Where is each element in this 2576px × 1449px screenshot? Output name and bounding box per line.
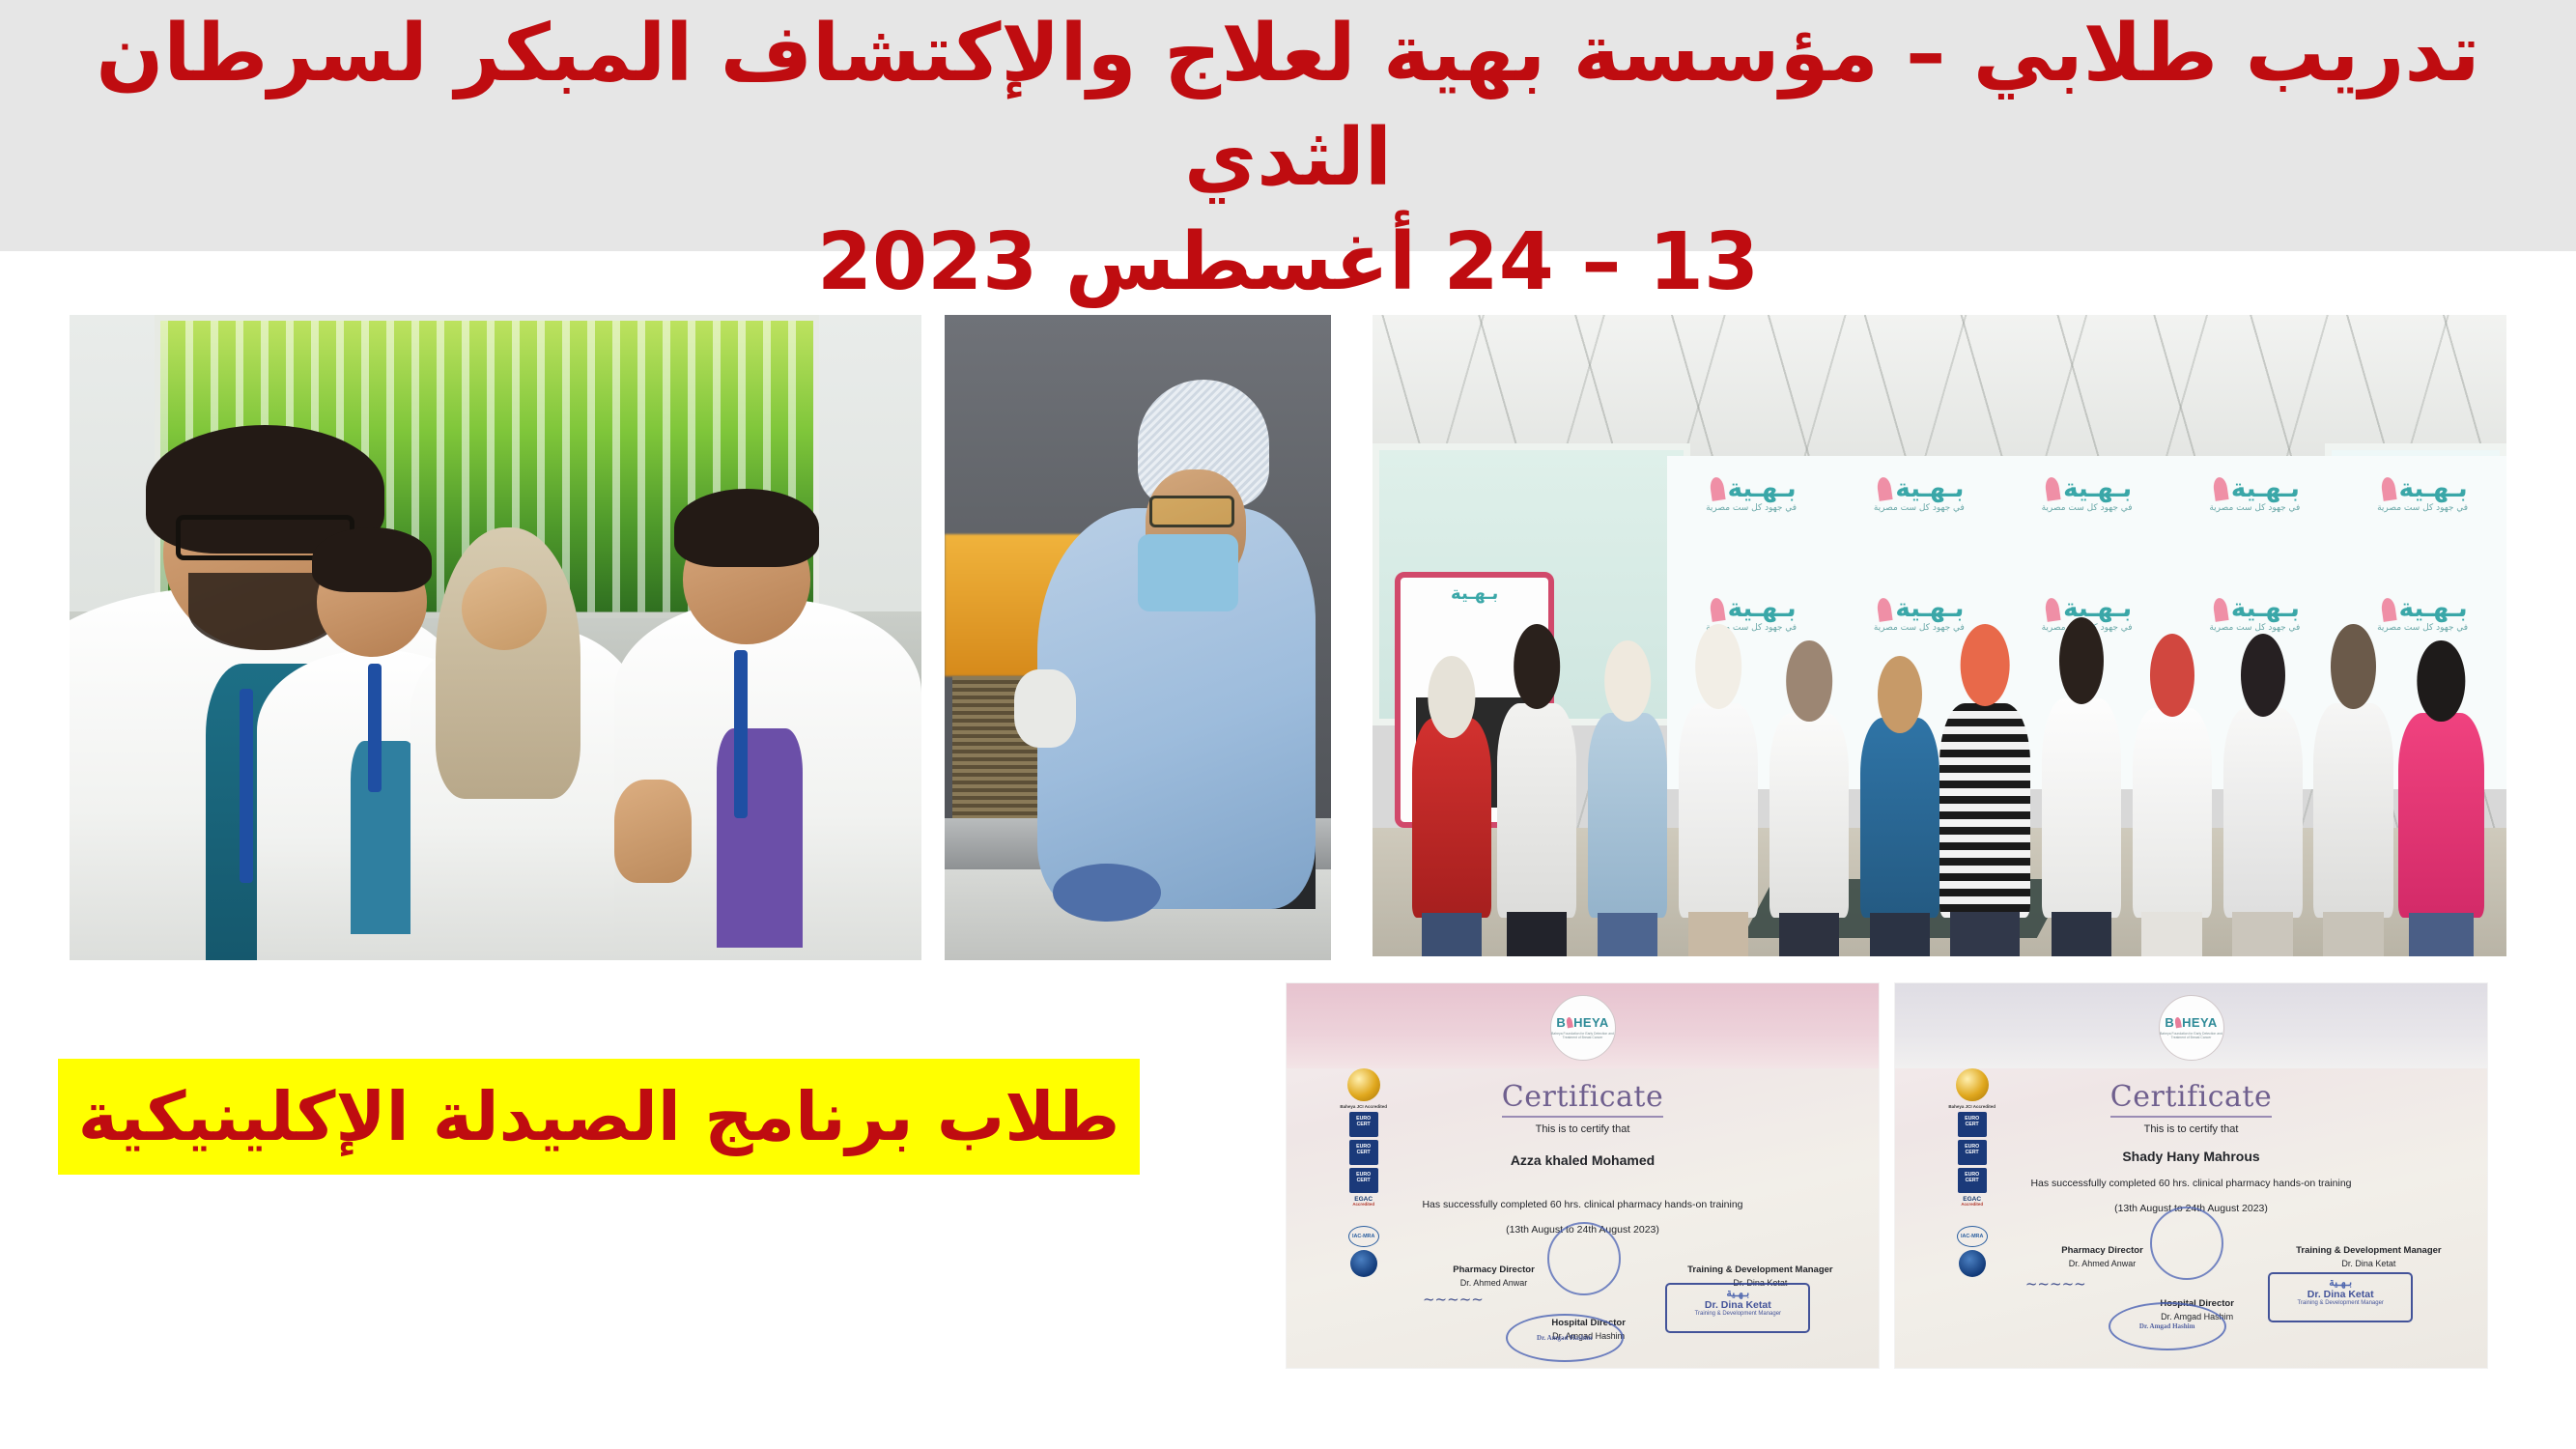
training-manager-stamp: بـهـية Dr. Dina Ketat Training & Develop…: [1665, 1283, 1810, 1333]
baheya-logo-text: بـهـية: [1895, 474, 1964, 503]
hospital-director-stamp: Dr. Amgad Hashim: [1506, 1314, 1624, 1362]
brand-initial: B: [1556, 1015, 1566, 1030]
jci-badge-label: Baheya JCI Accredited: [1948, 1104, 1996, 1109]
ministry-badge-icon: [1959, 1250, 1986, 1277]
ministry-badge-icon: [1350, 1250, 1377, 1277]
baheya-logo-tagline: في جهود كل ست مصرية: [2377, 624, 2468, 633]
group-person: [2398, 648, 2483, 918]
brand-tail: HEYA: [2182, 1015, 2218, 1030]
baheya-logo-text: بـهـية: [1728, 594, 1797, 623]
jci-badge-label: Baheya JCI Accredited: [1340, 1104, 1387, 1109]
baheya-logo-text: بـهـية: [2063, 474, 2132, 503]
group-person: [2223, 642, 2303, 919]
baheya-logo-text: بـهـية: [1728, 474, 1797, 503]
group-person: [1679, 636, 1758, 918]
baheya-logo-text: بـهـية: [2231, 474, 2300, 503]
pink-ribbon-icon: [2044, 597, 2060, 622]
group-person: [1497, 636, 1576, 918]
group-person: [2042, 629, 2121, 918]
baheya-brand-seal: BHEYA Baheya Foundation for Early Detect…: [1550, 995, 1616, 1061]
baheya-logo: بـهـية في جهود كل ست مصرية: [2042, 476, 2133, 513]
baheya-logo: بـهـية في جهود كل ست مصرية: [2377, 476, 2468, 513]
eurocert-badge-icon: EURO CERT: [1958, 1112, 1987, 1137]
signature-training-manager: Training & Development Manager Dr. Dina …: [2262, 1245, 2476, 1268]
eurocert-badge-icon: EURO CERT: [1958, 1168, 1987, 1193]
official-round-stamp-icon: [2150, 1207, 2223, 1280]
jci-gold-badge-icon: [1956, 1068, 1989, 1101]
pink-ribbon-icon: [1877, 476, 1893, 501]
jci-gold-badge-icon: [1347, 1068, 1380, 1101]
baheya-logo: بـهـية في جهود كل ست مصرية: [2209, 596, 2300, 633]
baheya-logo: بـهـية في جهود كل ست مصرية: [1874, 476, 1965, 513]
pink-ribbon-icon: [1709, 476, 1725, 501]
group-person: [1412, 662, 1491, 919]
slide-header-band: تدريب طلابي – مؤسسة بهية لعلاج والإكتشاف…: [0, 0, 2576, 251]
baheya-logo: بـهـية في جهود كل ست مصرية: [2209, 476, 2300, 513]
caption-text: طلاب برنامج الصيدلة الإكلينيكية: [78, 1077, 1120, 1156]
baheya-brand-seal: BHEYA Baheya Foundation for Early Detect…: [2159, 995, 2224, 1061]
group-person: [1588, 648, 1667, 918]
pink-ribbon-icon: [1877, 597, 1893, 622]
eurocert-badge-icon: EURO CERT: [1958, 1140, 1987, 1165]
pink-ribbon-icon: [1709, 597, 1725, 622]
handwritten-signature: ~~~~~: [1423, 1291, 1484, 1308]
baheya-logo-text: بـهـية: [1895, 594, 1964, 623]
group-person: [1860, 662, 1939, 919]
official-round-stamp-icon: [1547, 1222, 1621, 1295]
baheya-logo-text: بـهـية: [2399, 594, 2468, 623]
pink-ribbon-icon: [2174, 1017, 2182, 1029]
baheya-logo: بـهـية في جهود كل ست مصرية: [1706, 476, 1797, 513]
baheya-logo-text: بـهـية: [2231, 594, 2300, 623]
brand-initial: B: [2165, 1015, 2174, 1030]
training-manager-stamp: بـهـية Dr. Dina Ketat Training & Develop…: [2268, 1272, 2413, 1322]
eurocert-badge-icon: EURO CERT: [1349, 1168, 1378, 1193]
brand-subtitle: Baheya Foundation for Early Detection an…: [2160, 1032, 2223, 1040]
group-person: [2313, 636, 2392, 918]
pink-ribbon-icon: [2380, 476, 2396, 501]
baheya-logo-tagline: في جهود كل ست مصرية: [1874, 504, 1965, 513]
caption-highlight-box: طلاب برنامج الصيدلة الإكلينيكية: [58, 1059, 1140, 1175]
iac-mra-badge-icon: IAC-MRA: [1348, 1226, 1379, 1247]
page-title: تدريب طلابي – مؤسسة بهية لعلاج والإكتشاف…: [0, 2, 2576, 316]
iac-mra-badge-icon: IAC-MRA: [1957, 1226, 1988, 1247]
pink-ribbon-icon: [1566, 1017, 1573, 1029]
baheya-logo-tagline: في جهود كل ست مصرية: [1706, 504, 1797, 513]
photo-biosafety-cabinet: [945, 315, 1331, 960]
eurocert-badge-icon: EURO CERT: [1349, 1112, 1378, 1137]
egac-badge-icon: EGACAccredited: [1958, 1196, 1987, 1223]
face-mask-icon: [1138, 534, 1238, 611]
photo-lab-selfie: [70, 315, 921, 960]
group-person: [1769, 648, 1849, 918]
rollup-logo-text: بـهـية: [1401, 583, 1547, 604]
safety-goggles-icon: [1149, 496, 1234, 527]
pink-ribbon-icon: [2212, 597, 2228, 622]
brand-tail: HEYA: [1573, 1015, 1609, 1030]
thumbs-up-icon: [614, 780, 691, 883]
accreditation-badges: Baheya JCI Accredited EURO CERT EURO CER…: [1316, 1068, 1411, 1353]
egac-badge-icon: EGACAccredited: [1349, 1196, 1378, 1223]
baheya-logo-tagline: في جهود كل ست مصرية: [2377, 504, 2468, 513]
certificate-azza: BHEYA Baheya Foundation for Early Detect…: [1287, 983, 1879, 1368]
eurocert-badge-icon: EURO CERT: [1349, 1140, 1378, 1165]
handwritten-signature: ~~~~~: [2025, 1275, 2086, 1293]
baheya-logo-text: بـهـية: [2399, 474, 2468, 503]
baheya-logo-tagline: في جهود كل ست مصرية: [2209, 624, 2300, 633]
pink-ribbon-icon: [2212, 476, 2228, 501]
pink-ribbon-icon: [2044, 476, 2060, 501]
certificate-shady: BHEYA Baheya Foundation for Early Detect…: [1895, 983, 2487, 1368]
group-person: [1939, 636, 2030, 918]
baheya-logo-tagline: في جهود كل ست مصرية: [1874, 624, 1965, 633]
hospital-director-stamp: Dr. Amgad Hashim: [2109, 1302, 2226, 1350]
baheya-logo-tagline: في جهود كل ست مصرية: [2209, 504, 2300, 513]
baheya-logo: بـهـية في جهود كل ست مصرية: [1874, 596, 1965, 633]
brand-subtitle: Baheya Foundation for Early Detection an…: [1551, 1032, 1615, 1040]
photo-group-banner: بـهـية في جهود كل ست مصرية بـهـية في جهو…: [1373, 315, 2506, 956]
baheya-logo: بـهـية في جهود كل ست مصرية: [2377, 596, 2468, 633]
baheya-logo-tagline: في جهود كل ست مصرية: [2042, 504, 2133, 513]
accreditation-badges: Baheya JCI Accredited EURO CERT EURO CER…: [1925, 1068, 2020, 1353]
group-person: [2133, 642, 2212, 919]
pink-ribbon-icon: [2380, 597, 2396, 622]
